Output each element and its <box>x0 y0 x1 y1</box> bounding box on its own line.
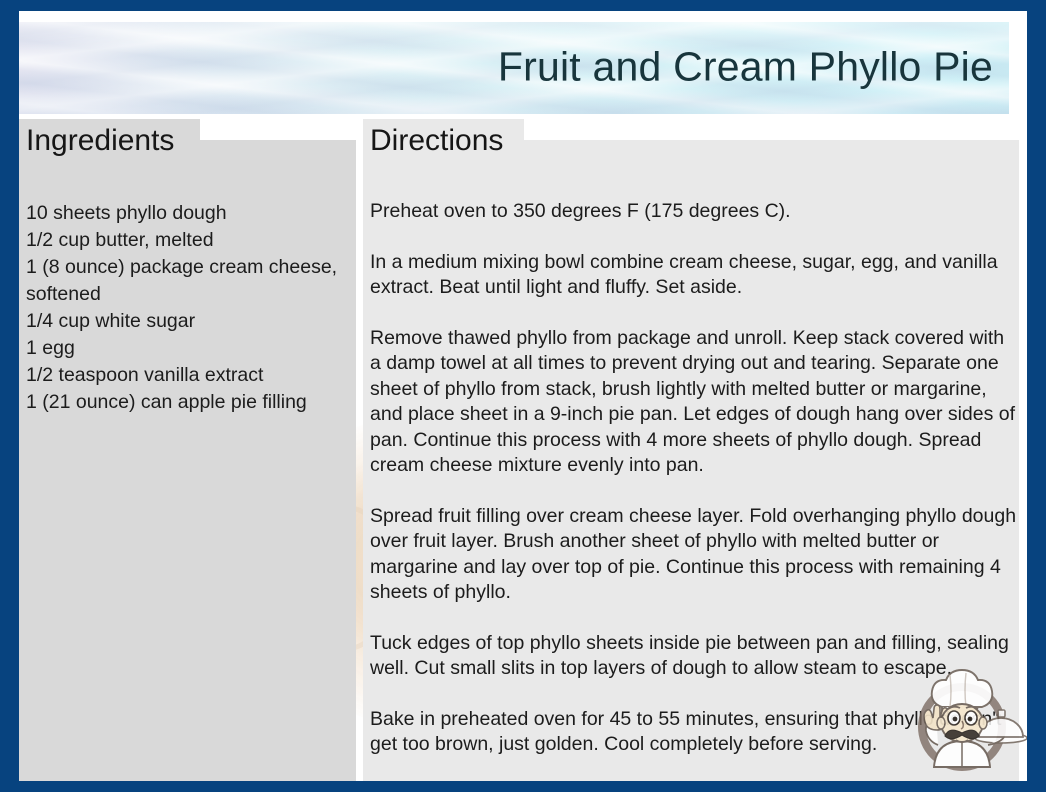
directions-steps-list: Preheat oven to 350 degrees F (175 degre… <box>370 199 1018 758</box>
list-item: 1 (21 ounce) can apple pie filling <box>26 389 351 416</box>
recipe-card-body: Fruit and Cream Phyllo Pie <box>19 11 1027 781</box>
list-item: 1/4 cup white sugar <box>26 308 351 335</box>
ingredients-panel: Ingredients 10 sheets phyllo dough 1/2 c… <box>19 140 356 781</box>
list-item: 1/2 teaspoon vanilla extract <box>26 362 351 389</box>
direction-step: In a medium mixing bowl combine cream ch… <box>370 250 1018 301</box>
page-title: Fruit and Cream Phyllo Pie <box>498 44 993 91</box>
direction-step: Remove thawed phyllo from package and un… <box>370 326 1018 479</box>
list-item: 1/2 cup butter, melted <box>26 227 351 254</box>
direction-step: Bake in preheated oven for 45 to 55 minu… <box>370 707 1018 758</box>
directions-heading: Directions <box>370 124 503 158</box>
list-item: 10 sheets phyllo dough <box>26 200 351 227</box>
direction-step: Preheat oven to 350 degrees F (175 degre… <box>370 199 1018 225</box>
ingredients-list: 10 sheets phyllo dough 1/2 cup butter, m… <box>26 200 351 416</box>
direction-step: Spread fruit filling over cream cheese l… <box>370 504 1018 606</box>
list-item: 1 egg <box>26 335 351 362</box>
header-banner: Fruit and Cream Phyllo Pie <box>19 22 1009 114</box>
directions-panel: Directions Preheat oven to 350 degrees F… <box>363 140 1019 781</box>
list-item: 1 (8 ounce) package cream cheese, soften… <box>26 254 351 308</box>
ingredients-heading: Ingredients <box>26 124 174 158</box>
recipe-card: Fruit and Cream Phyllo Pie <box>0 0 1046 792</box>
direction-step: Tuck edges of top phyllo sheets inside p… <box>370 631 1018 682</box>
